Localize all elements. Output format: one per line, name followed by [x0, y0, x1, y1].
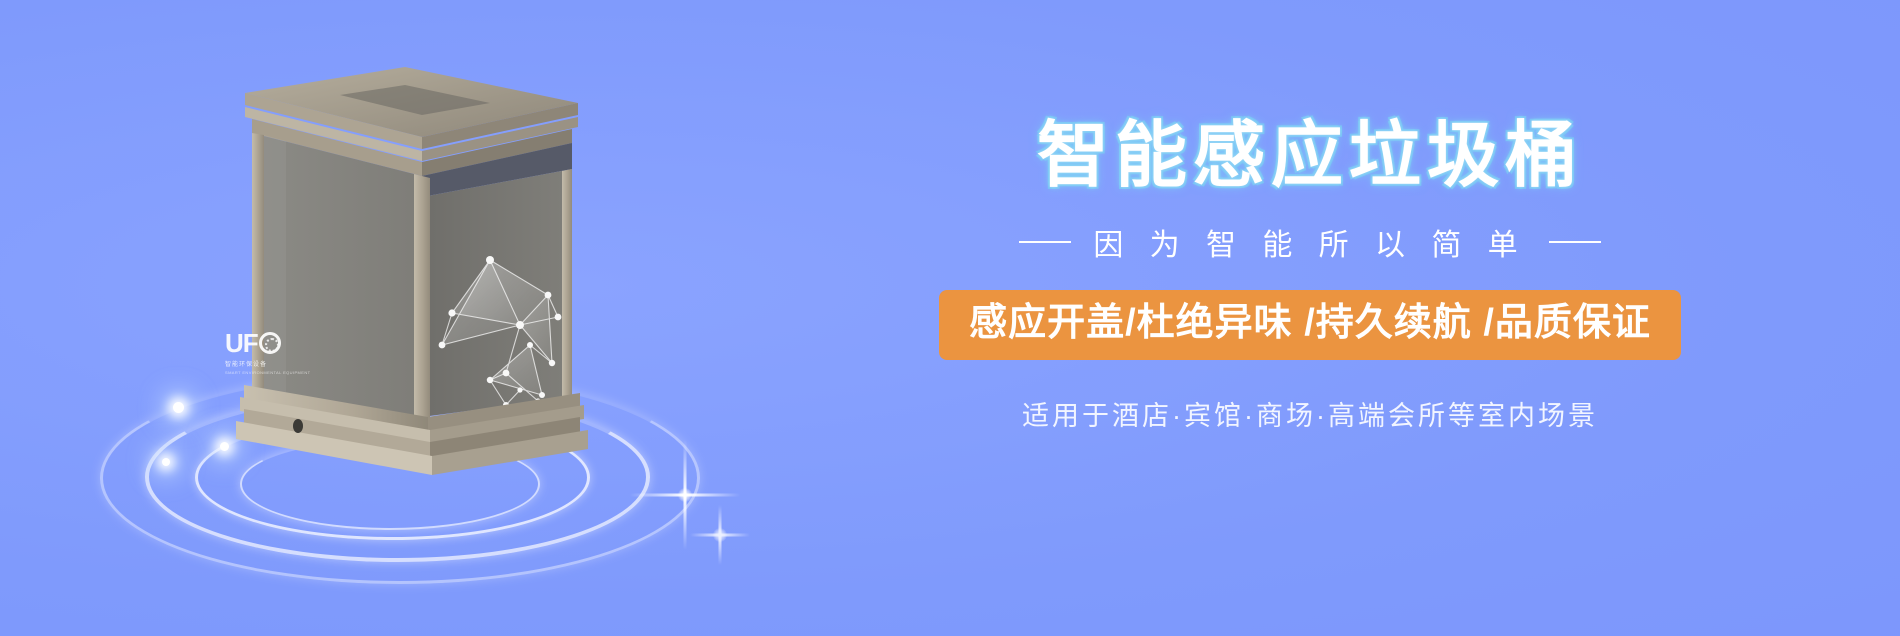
subline-rule-left: [1019, 241, 1071, 243]
glow-dot-icon: [162, 458, 170, 466]
headline: 智能感应垃圾桶: [880, 120, 1740, 192]
sparkle-core: [713, 528, 727, 542]
sparkle-star-icon: [690, 505, 750, 565]
subline-text: 因 为 智 能 所 以 简 单: [1093, 220, 1526, 264]
glow-dot-icon: [173, 402, 184, 413]
product-scene: UF 智能环保设备 SMART ENVIRONMENTAL EQUIPMENT: [60, 0, 860, 636]
sparkle-core: [678, 488, 692, 502]
product-promo-banner: UF 智能环保设备 SMART ENVIRONMENTAL EQUIPMENT …: [0, 0, 1900, 636]
smart-trash-bin-image: [190, 45, 610, 485]
usage-scenarios-text: 适用于酒店·宾馆·商场·高端会所等室内场景: [880, 394, 1740, 433]
copy-block: 智能感应垃圾桶 因 为 智 能 所 以 简 单 感应开盖/杜绝异味 /持久续航 …: [880, 120, 1740, 433]
feature-highlight-bar: 感应开盖/杜绝异味 /持久续航 /品质保证: [939, 290, 1681, 360]
subline: 因 为 智 能 所 以 简 单: [880, 220, 1740, 264]
subline-rule-right: [1549, 241, 1601, 243]
